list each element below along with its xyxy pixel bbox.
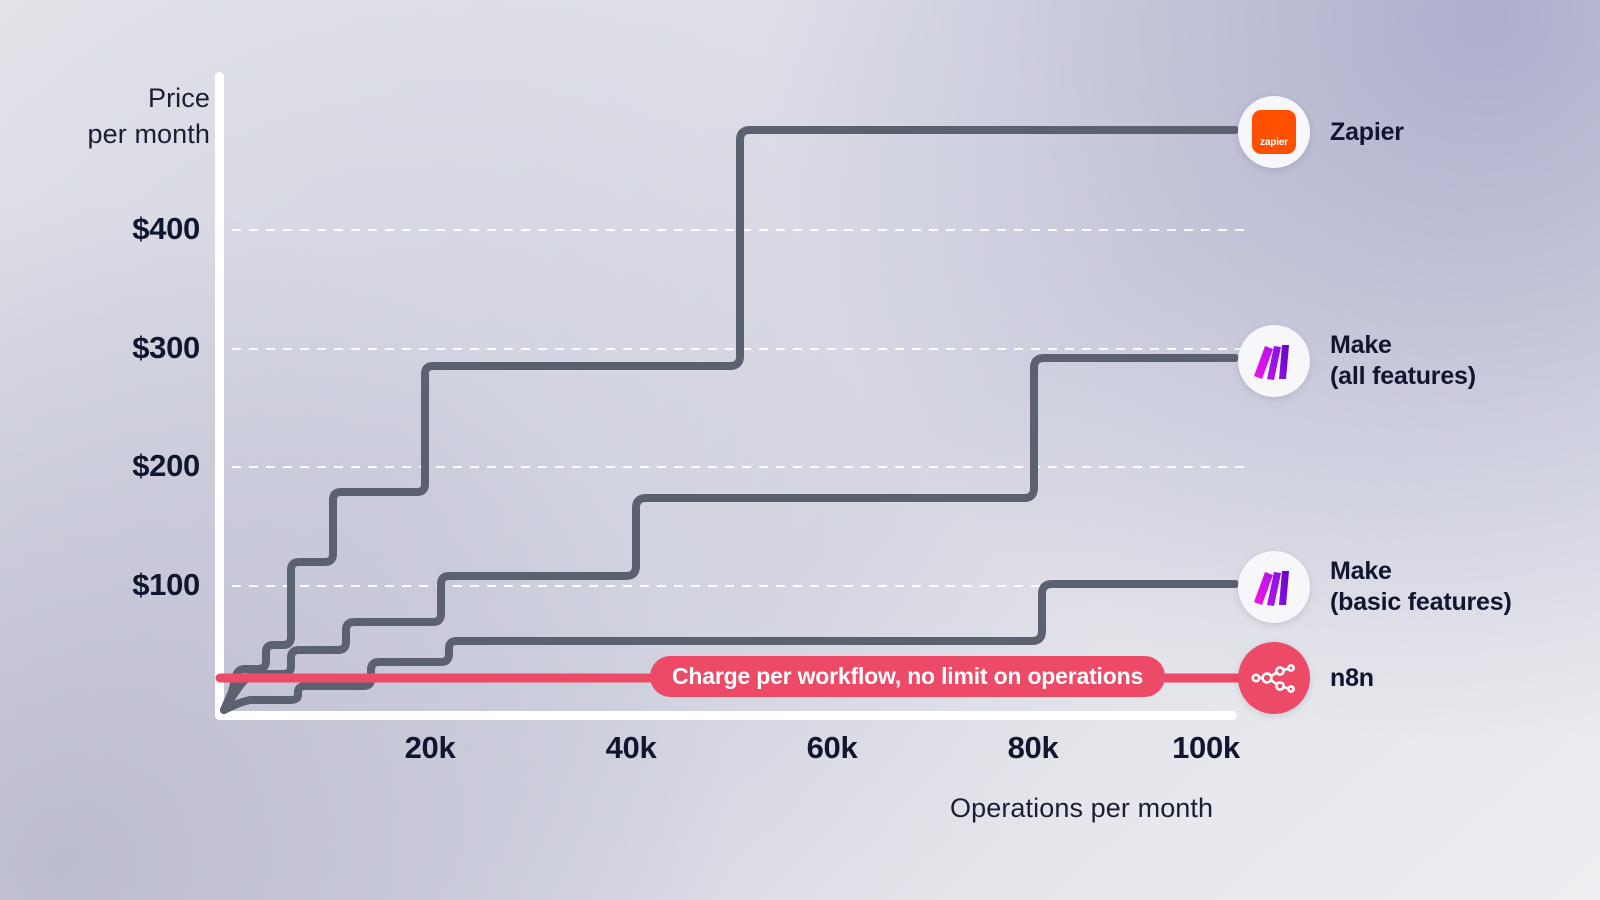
legend-label-n8n: n8n: [1330, 663, 1374, 694]
make-mark: [1252, 567, 1296, 607]
legend-label-make-basic: Make (basic features): [1330, 556, 1512, 618]
zapier-wordmark: zapier: [1260, 137, 1288, 148]
n8n-logo-icon: [1238, 642, 1310, 714]
n8n-mark: [1250, 661, 1298, 695]
legend-item-zapier[interactable]: zapier Zapier: [1238, 96, 1404, 168]
make-logo-icon: [1238, 551, 1310, 623]
annotation-pill-label: Charge per workflow, no limit on operati…: [672, 663, 1143, 690]
chart-canvas: Price per month Operations per month $40…: [0, 0, 1600, 900]
annotation-pill: Charge per workflow, no limit on operati…: [650, 656, 1165, 697]
make-mark: [1252, 341, 1296, 381]
make-logo-icon: [1238, 325, 1310, 397]
legend-label-zapier: Zapier: [1330, 117, 1404, 148]
zapier-mark: zapier: [1252, 110, 1296, 154]
zapier-logo-icon: zapier: [1238, 96, 1310, 168]
legend-item-make-basic[interactable]: Make (basic features): [1238, 551, 1512, 623]
legend-item-make-all[interactable]: Make (all features): [1238, 325, 1476, 397]
legend-item-n8n[interactable]: n8n: [1238, 642, 1374, 714]
legend-label-make-all: Make (all features): [1330, 330, 1476, 392]
